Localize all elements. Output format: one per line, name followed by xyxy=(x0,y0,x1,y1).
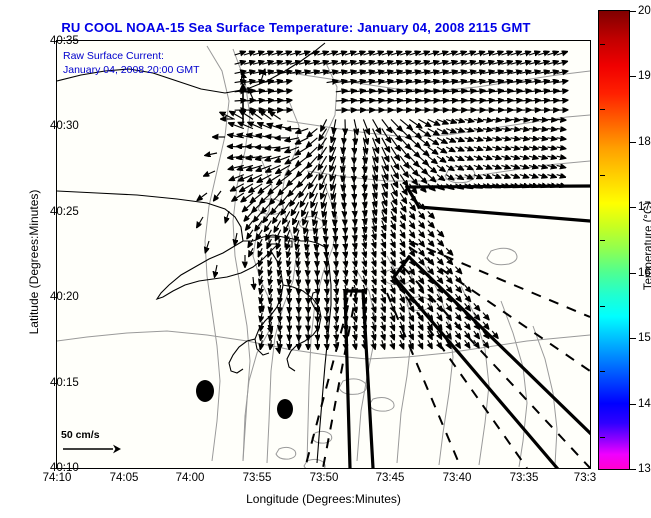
colorbar-tick-label: 13 xyxy=(638,463,651,475)
station-marker[interactable] xyxy=(277,399,293,419)
velocity-scale-label: 50 cm/s xyxy=(61,429,123,441)
x-tick-label: 73:3 xyxy=(574,472,596,484)
x-tick-label: 74:05 xyxy=(110,472,139,484)
velocity-scale-legend: 50 cm/s xyxy=(61,429,123,462)
y-tick-label: 40:25 xyxy=(50,206,79,218)
page-title: RU COOL NOAA-15 Sea Surface Temperature:… xyxy=(0,20,592,35)
x-tick-label: 74:00 xyxy=(176,472,205,484)
map-canvas xyxy=(57,41,590,468)
y-axis-title: Latitude (Degrees:Minutes) xyxy=(27,142,41,382)
colorbar-title: Temperature (°C) xyxy=(643,146,651,346)
map-plot-area[interactable]: Raw Surface Current: January 04, 2008 20… xyxy=(56,40,591,469)
x-tick-label: 73:35 xyxy=(510,472,539,484)
colorbar-tick-label: 19 xyxy=(638,70,651,82)
colorbar-tick-label: 20 xyxy=(638,5,651,17)
x-tick-label: 73:40 xyxy=(443,472,472,484)
bathymetry-contours xyxy=(57,46,590,468)
y-tick-label: 40:20 xyxy=(50,291,79,303)
y-tick-label: 40:10 xyxy=(50,462,79,474)
velocity-scale-arrow-icon xyxy=(61,441,123,457)
y-tick-label: 40:35 xyxy=(50,35,79,47)
coastline xyxy=(57,43,331,463)
x-tick-label: 73:55 xyxy=(243,472,272,484)
colorbar-tick-label: 14 xyxy=(638,398,651,410)
radar-beam-sectors-solid xyxy=(345,186,590,468)
y-tick-label: 40:30 xyxy=(50,120,79,132)
y-tick-label: 40:15 xyxy=(50,377,79,389)
station-marker[interactable] xyxy=(196,380,214,402)
surface-current-vectors xyxy=(197,52,568,353)
x-axis-title: Longitude (Degrees:Minutes) xyxy=(56,492,591,506)
x-tick-label: 73:50 xyxy=(310,472,339,484)
x-tick-label: 73:45 xyxy=(376,472,405,484)
